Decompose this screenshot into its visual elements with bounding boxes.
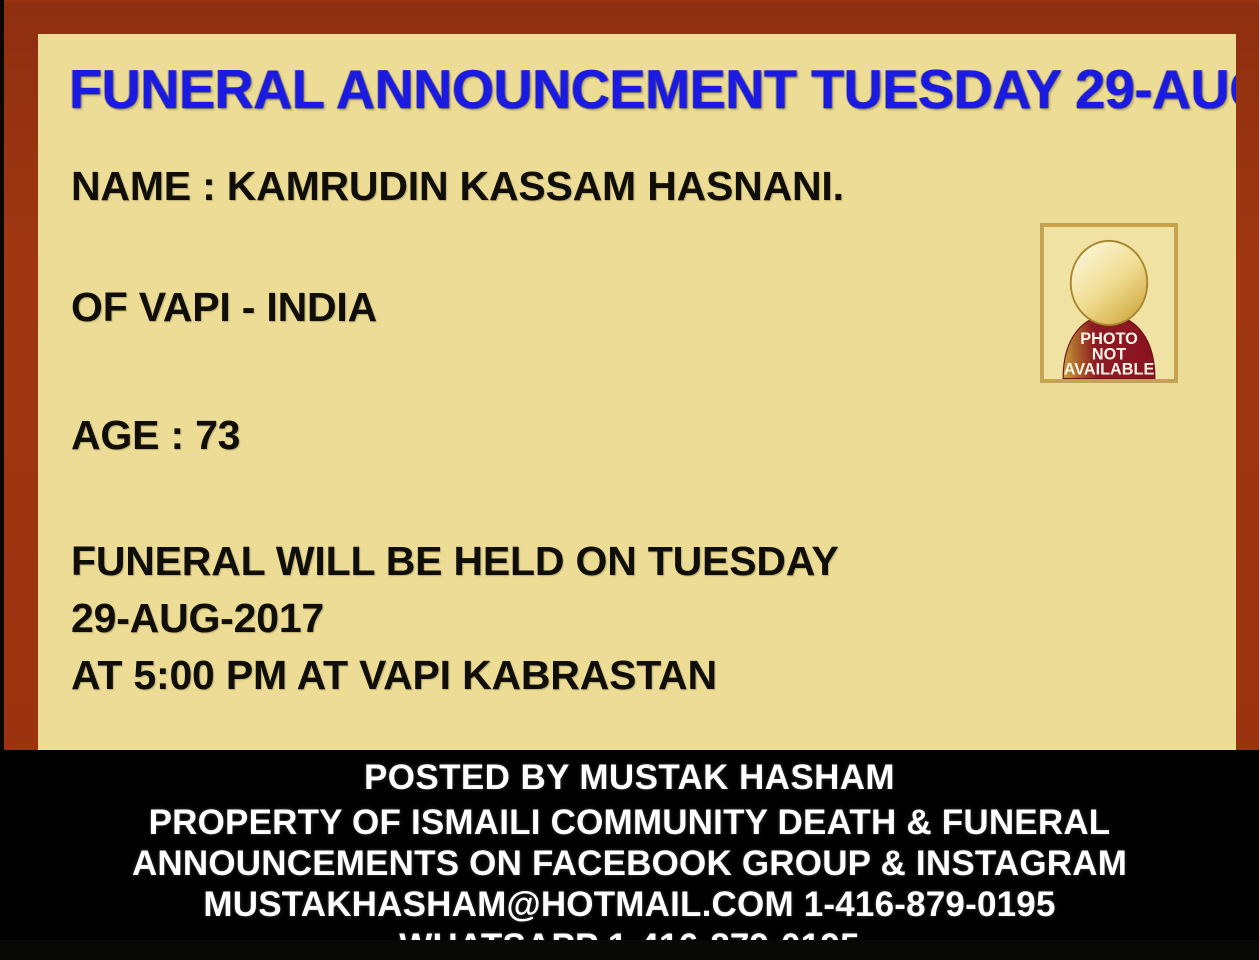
photo-caption-line-3: AVAILABLE bbox=[1064, 361, 1155, 379]
announcement-panel: FUNERAL ANNOUNCEMENT TUESDAY 29-AUG-2017… bbox=[38, 34, 1236, 752]
spacer bbox=[71, 329, 1051, 413]
footer-line-social: ANNOUNCEMENTS ON FACEBOOK GROUP & INSTAG… bbox=[0, 843, 1259, 884]
announcement-body: NAME : KAMRUDIN KASSAM HASNANI. OF VAPI … bbox=[71, 164, 1051, 704]
deceased-age-line: AGE : 73 bbox=[71, 413, 1051, 457]
funeral-detail-line-1: FUNERAL WILL BE HELD ON TUESDAY bbox=[71, 533, 1051, 590]
deceased-name-line: NAME : KAMRUDIN KASSAM HASNANI. bbox=[71, 164, 1051, 208]
footer-line-posted-by: POSTED BY MUSTAK HASHAM bbox=[0, 754, 1259, 802]
photo-not-available-icon: PHOTO NOT AVAILABLE bbox=[1044, 227, 1174, 379]
funeral-announcement-poster: FUNERAL ANNOUNCEMENT TUESDAY 29-AUG-2017… bbox=[0, 0, 1259, 960]
footer-banner: POSTED BY MUSTAK HASHAM PROPERTY OF ISMA… bbox=[0, 750, 1259, 960]
footer-text-block: POSTED BY MUSTAK HASHAM PROPERTY OF ISMA… bbox=[0, 754, 1259, 960]
spacer bbox=[71, 208, 1051, 285]
photo-not-available-placeholder: PHOTO NOT AVAILABLE bbox=[1041, 224, 1177, 382]
page-title: FUNERAL ANNOUNCEMENT TUESDAY 29-AUG-2017 bbox=[69, 60, 1202, 118]
deceased-place-line: OF VAPI - INDIA bbox=[71, 285, 1051, 329]
spacer bbox=[71, 457, 1051, 533]
footer-line-email-phone: MUSTAKHASHAM@HOTMAIL.COM 1-416-879-0195 bbox=[0, 884, 1259, 926]
funeral-detail-line-3: AT 5:00 PM AT VAPI KABRASTAN bbox=[71, 647, 1051, 704]
funeral-detail-line-2: 29-AUG-2017 bbox=[71, 590, 1051, 647]
footer-line-property: PROPERTY OF ISMAILI COMMUNITY DEATH & FU… bbox=[0, 802, 1259, 843]
footer-bottom-band bbox=[0, 940, 1259, 960]
poster-frame: FUNERAL ANNOUNCEMENT TUESDAY 29-AUG-2017… bbox=[0, 0, 1259, 756]
